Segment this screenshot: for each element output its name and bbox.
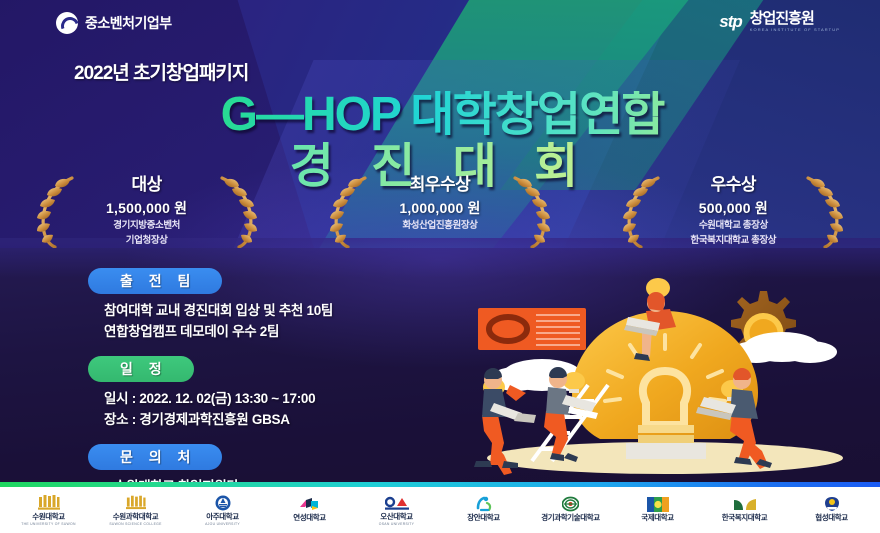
award-amount: 1,500,000 원 [67, 198, 227, 218]
title-line-1: G—HOP 대학창업연합 [0, 91, 880, 140]
award-org-line-1: 수원대학교 총장상 [653, 220, 813, 233]
stp-mark-icon: stp [719, 13, 742, 30]
awards-row: 대상 1,500,000 원 경기지방중소벤처 기업청장상 [0, 168, 880, 254]
ajou-emblem-icon [215, 494, 231, 511]
footer-university-name: 연성대학교 [293, 514, 326, 522]
kookje-flag-icon [647, 495, 669, 512]
laurel-wreath-icon [802, 174, 848, 248]
hyupsung-crest-icon [823, 495, 841, 512]
section-line: 장소 : 경기경제과학진흥원 GBSA [104, 410, 458, 431]
award-text: 대상 1,500,000 원 경기지방중소벤처 기업청장상 [67, 168, 227, 254]
footer-university-name: 장안대학교 [467, 514, 500, 522]
chart-panel-icon [478, 308, 586, 350]
footer-university-logo: 한국복지대학교 [701, 487, 788, 533]
yeonsung-blocks-icon [299, 495, 321, 512]
section-line: 참여대학 교내 경진대회 입상 및 추천 10팀 [104, 301, 458, 322]
footer-university-subtitle: SUWON SCIENCE COLLEGE [109, 523, 161, 526]
gtec-emblem-icon [562, 495, 579, 512]
footer-university-name: 수원과학대학교 [113, 513, 159, 521]
award-item: 우수상 500,000 원 수원대학교 총장상 한국복지대학교 총장상 [608, 168, 858, 254]
footer-university-logo: 아주대학교 AJOU UNIVERSITY [179, 487, 266, 533]
laurel-wreath-icon [216, 174, 262, 248]
award-name: 최우수상 [360, 170, 520, 195]
award-item: 최우수상 1,000,000 원 화성산업진흥원장상 [315, 168, 565, 254]
ministry-circle-icon [56, 12, 78, 34]
ministry-logo-label: 중소벤처기업부 [85, 13, 172, 33]
footer-university-logo: 경기과학기술대학교 [527, 487, 614, 533]
ministry-logo: 중소벤처기업부 [56, 12, 172, 34]
footer-university-logo: 수원과학대학교 SUWON SCIENCE COLLEGE [92, 487, 179, 533]
footer-university-name: 국제대학교 [641, 514, 674, 522]
award-text: 우수상 500,000 원 수원대학교 총장상 한국복지대학교 총장상 [653, 168, 813, 254]
kised-logo-subtitle: KOREA INSTITUTE OF STARTUP [750, 28, 840, 32]
award-org-line-2: 한국복지대학교 총장상 [653, 235, 813, 248]
suwon-science-crown-icon [126, 494, 146, 511]
laurel-wreath-icon [325, 174, 371, 248]
footer-university-name: 오산대학교 [380, 513, 413, 521]
award-org-line-1: 경기지방중소벤처 [67, 220, 227, 233]
title-eyebrow: 2022년 초기창업패키지 [74, 58, 880, 85]
footer-university-logo: 오산대학교 OSAN UNIVERSITY [353, 487, 440, 533]
section-label-teams: 출 전 팀 [88, 268, 222, 294]
event-poster: 중소벤처기업부 stp 창업진흥원 KOREA INSTITUTE OF STA… [0, 0, 880, 533]
award-item: 대상 1,500,000 원 경기지방중소벤처 기업청장상 [22, 168, 272, 254]
header-logo-row: 중소벤처기업부 stp 창업진흥원 KOREA INSTITUTE OF STA… [0, 8, 880, 42]
footer-university-name: 한국복지대학교 [722, 514, 768, 522]
section-schedule: 일 정 일시 : 2022. 12. 02(금) 13:30 ~ 17:00 장… [88, 356, 458, 431]
section-line: 연합창업캠프 데모데이 우수 2팀 [104, 322, 458, 343]
award-name: 우수상 [653, 170, 813, 195]
kised-logo-label: 창업진흥원 [750, 11, 814, 27]
laurel-wreath-icon [509, 174, 555, 248]
section-teams: 출 전 팀 참여대학 교내 경진대회 입상 및 추천 10팀 연합창업캠프 데모… [88, 268, 458, 343]
footer-logo-bar: 수원대학교 THE UNIVERSITY OF SUWON 수원과학대학교 SU… [0, 487, 880, 533]
suwon-crown-icon [38, 494, 60, 511]
osan-mark-icon [385, 494, 409, 511]
footer-university-subtitle: THE UNIVERSITY OF SUWON [21, 523, 76, 526]
kised-logo: stp 창업진흥원 KOREA INSTITUTE OF STARTUP [719, 11, 840, 32]
section-body-schedule: 일시 : 2022. 12. 02(금) 13:30 ~ 17:00 장소 : … [88, 389, 458, 431]
footer-university-logo: 수원대학교 THE UNIVERSITY OF SUWON [5, 487, 92, 533]
footer-university-subtitle: AJOU UNIVERSITY [205, 523, 240, 526]
footer-university-name: 수원대학교 [32, 513, 65, 521]
footer-university-name: 경기과학기술대학교 [541, 514, 600, 522]
section-line: 일시 : 2022. 12. 02(금) 13:30 ~ 17:00 [104, 389, 458, 410]
award-name: 대상 [67, 170, 227, 195]
welfare-univ-leaf-icon [734, 495, 756, 512]
footer-university-logo: 협성대학교 [788, 487, 875, 533]
footer-university-name: 협성대학교 [815, 514, 848, 522]
section-body-teams: 참여대학 교내 경진대회 입상 및 추천 10팀 연합창업캠프 데모데이 우수 … [88, 301, 458, 343]
section-label-schedule: 일 정 [88, 356, 194, 382]
award-org-line-2: 기업청장상 [67, 235, 227, 248]
footer-university-subtitle: OSAN UNIVERSITY [379, 523, 414, 526]
footer-university-logo: 국제대학교 [614, 487, 701, 533]
award-text: 최우수상 1,000,000 원 화성산업진흥원장상 [360, 168, 520, 254]
laurel-wreath-icon [618, 174, 664, 248]
footer-university-logo: 연성대학교 [266, 487, 353, 533]
award-org-line-1: 화성산업진흥원장상 [360, 220, 520, 233]
footer-university-name: 아주대학교 [206, 513, 239, 521]
kised-logo-text: 창업진흥원 KOREA INSTITUTE OF STARTUP [750, 11, 840, 32]
award-amount: 1,000,000 원 [360, 198, 520, 218]
laurel-wreath-icon [32, 174, 78, 248]
footer-university-logo: 장안대학교 [440, 487, 527, 533]
startup-lightbulb-illustration [460, 275, 870, 480]
award-amount: 500,000 원 [653, 198, 813, 218]
section-label-contact: 문 의 처 [88, 444, 222, 470]
jangan-mark-icon [475, 495, 493, 512]
